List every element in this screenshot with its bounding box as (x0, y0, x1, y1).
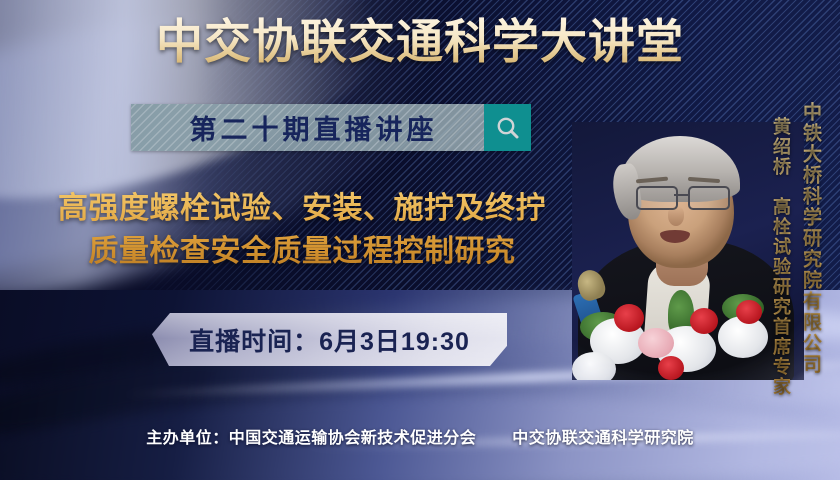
flower-red (690, 308, 718, 334)
organizer-prefix: 主办单位：中国交通运输协会新技术促进分会 (146, 430, 476, 447)
speaker-organization: 中铁大桥科学研究院有限公司 (797, 102, 824, 375)
page-title: 中交协联交通科学大讲堂 (0, 16, 840, 69)
organizer-suffix: 中交协联交通科学研究院 (512, 430, 694, 447)
speaker-name-role: 黄绍桥 高栓试验研究首席专家 (768, 117, 794, 397)
banner-poster: 中交协联交通科学大讲堂 第二十期直播讲座 高强度螺栓试验、安装、施拧及终拧 质量… (0, 0, 840, 480)
search-icon (495, 115, 521, 141)
flower-pink (638, 328, 674, 358)
broadcast-time-badge: 直播时间：6月3日19:30 (152, 313, 507, 366)
flower-white (572, 352, 616, 380)
flower-red (736, 300, 762, 324)
glasses-bridge (674, 194, 688, 196)
photo-nose (668, 206, 684, 226)
lecture-title-line2: 质量检查安全质量过程控制研究 (6, 231, 598, 274)
flower-red (614, 304, 644, 332)
episode-bar: 第二十期直播讲座 (131, 104, 531, 151)
episode-label: 第二十期直播讲座 (131, 108, 484, 147)
broadcast-time-text: 直播时间：6月3日19:30 (189, 322, 470, 358)
organizer-footer: 主办单位：中国交通运输协会新技术促进分会 中交协联交通科学研究院 (0, 424, 840, 448)
lecture-title-line1: 高强度螺栓试验、安装、施拧及终拧 (6, 188, 598, 231)
glasses-lens-right (688, 186, 730, 210)
search-button[interactable] (484, 104, 531, 151)
photo-glasses (634, 186, 730, 208)
flower-red (658, 356, 684, 380)
lecture-title: 高强度螺栓试验、安装、施拧及终拧 质量检查安全质量过程控制研究 (6, 188, 598, 273)
